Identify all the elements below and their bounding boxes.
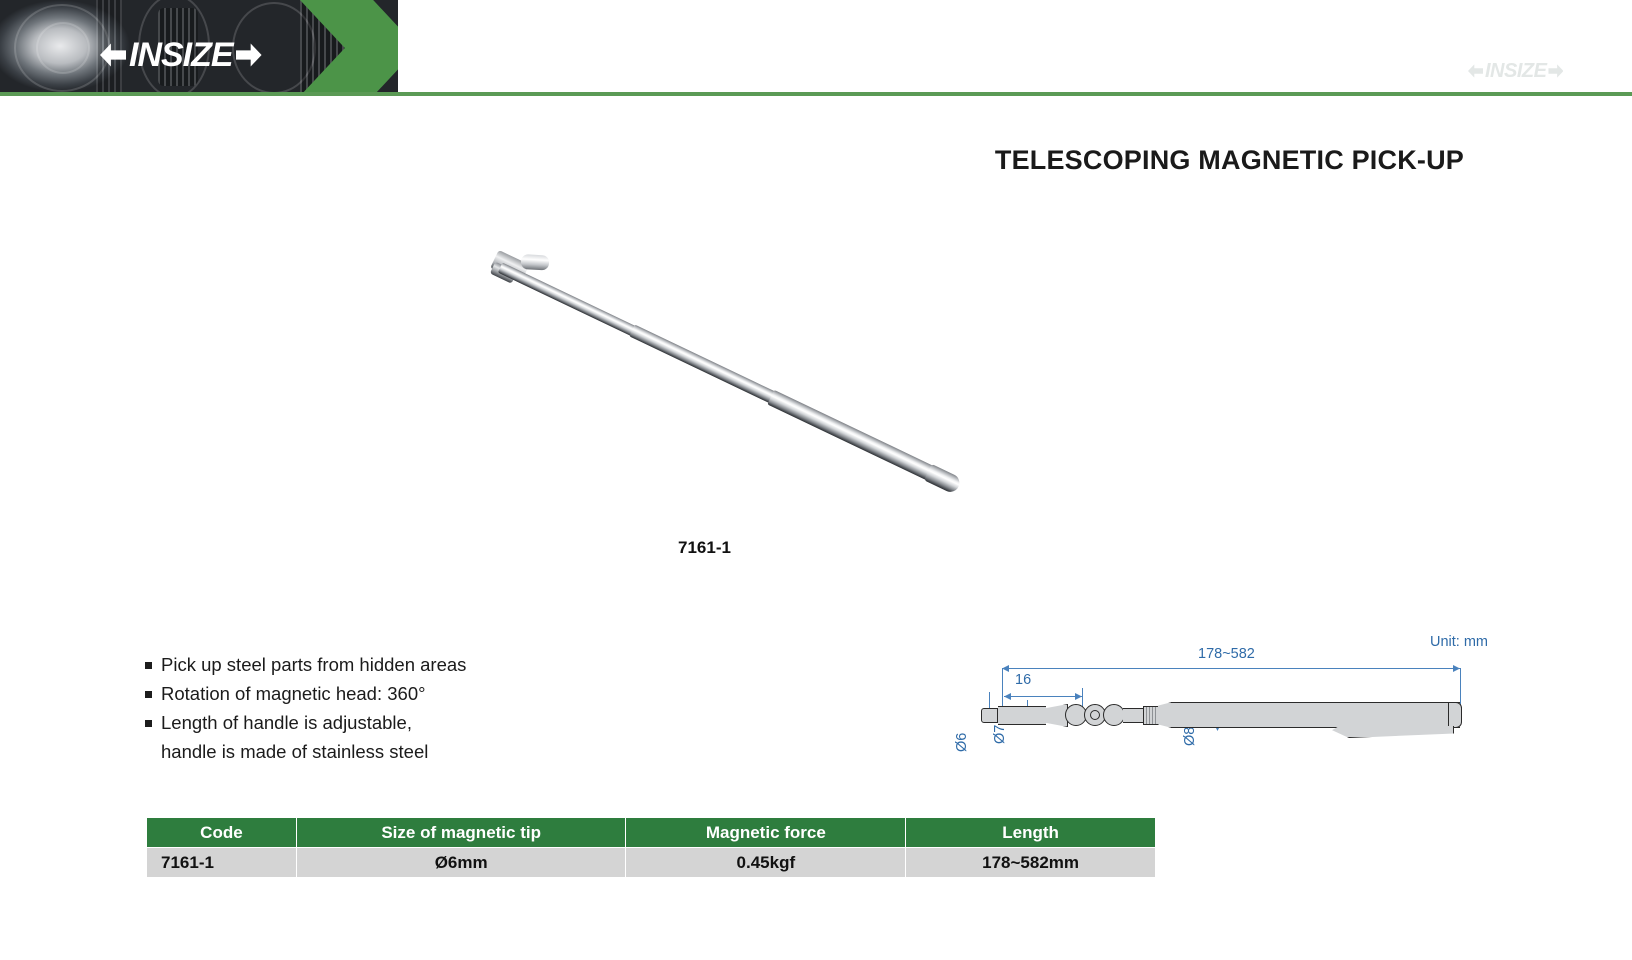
right-arrow-icon [236,42,262,68]
feature-text: Pick up steel parts from hidden areas [161,653,466,677]
drawing-neck-body [998,706,1046,725]
drawing-shaft-taper [1158,702,1172,728]
dim-overall-length: 178~582 [1198,646,1255,662]
unit-label: Unit: mm [1430,634,1488,650]
table-header-row: Code Size of magnetic tip Magnetic force… [147,818,1156,848]
shaft-segment-1 [498,263,638,338]
column-header-code: Code [147,818,297,848]
left-arrow-icon [100,42,126,68]
drawing-collar [1123,708,1145,723]
magnet-tip [521,254,550,271]
cell-length: 178~582mm [906,848,1156,878]
drawing-knurl [1143,706,1159,725]
drawing-ball-joint-right [1103,704,1125,726]
dim-line-overall [1002,668,1460,669]
square-bullet-icon [145,662,152,669]
watermark-text: INSIZE [1485,62,1546,80]
feature-list: Pick up steel parts from hidden areas Ro… [145,653,615,764]
column-header-size: Size of magnetic tip [296,818,626,848]
drawing-magnetic-tip [981,708,998,723]
square-bullet-icon [145,691,152,698]
cell-force: 0.45kgf [626,848,906,878]
left-arrow-icon [1468,64,1483,79]
list-item: Pick up steel parts from hidden areas [145,653,615,677]
drawing-end-cap [1448,702,1462,728]
header-white-area [398,0,1632,96]
logo-text: INSIZE [129,40,233,70]
dim-tip-section-length: 16 [1015,672,1031,688]
dim-neck-diameter: Ø7 [992,725,1008,744]
feature-text-continuation: handle is made of stainless steel [145,740,615,764]
feature-text: Rotation of magnetic head: 360° [161,682,426,706]
drawing-pocket-clip [1332,726,1454,738]
shaft-end-cap [924,464,962,495]
insize-logo: INSIZE [100,38,262,72]
shaft-segment-2 [629,325,779,406]
page-header: INSIZE INSIZE [0,0,1632,96]
column-header-force: Magnetic force [626,818,906,848]
right-arrow-icon [1548,64,1563,79]
dim-tip-diameter: Ø6 [954,733,970,752]
specification-table: Code Size of magnetic tip Magnetic force… [146,817,1156,878]
page-title: TELESCOPING MAGNETIC PICK-UP [995,145,1464,176]
feature-text: Length of handle is adjustable, [161,711,412,735]
square-bullet-icon [145,720,152,727]
cell-size: Ø6mm [296,848,626,878]
technical-drawing: Unit: mm 178~582 16 Ø6 Ø7 Ø8 [960,628,1490,758]
header-green-rule [0,92,1632,96]
dim-arrow-right [1453,665,1460,672]
insize-watermark: INSIZE [1468,58,1563,84]
product-code-label: 7161-1 [678,538,731,558]
product-photo [470,230,1070,550]
dim-shaft-diameter: Ø8 [1182,727,1198,746]
drawing-joint-pin [1090,710,1100,720]
dim-arrow-right [1075,693,1082,700]
dim-arrow-left [1002,665,1009,672]
decorative-ring [36,22,90,74]
dim-arrow-left [1004,693,1011,700]
column-header-length: Length [906,818,1156,848]
list-item: Rotation of magnetic head: 360° [145,682,615,706]
drawing-telescoping-shaft [1171,702,1460,728]
product-catalog-page: INSIZE INSIZE TELESCOPING MAGNETIC PICK-… [0,0,1632,960]
list-item: Length of handle is adjustable, [145,711,615,735]
shaft-segment-3 [767,390,936,482]
telescoping-shaft [497,261,973,499]
table-row: 7161-1 Ø6mm 0.45kgf 178~582mm [147,848,1156,878]
dim-line-16 [1004,696,1082,697]
cell-code: 7161-1 [147,848,297,878]
